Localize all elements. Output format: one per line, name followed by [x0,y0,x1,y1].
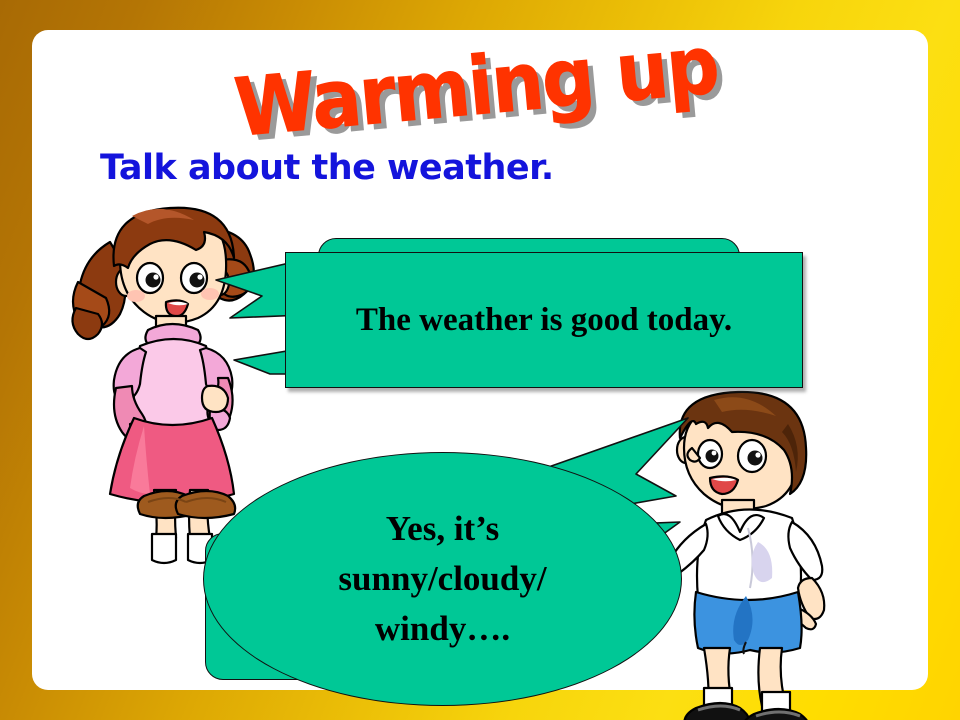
bubble-boy-line-2: sunny/cloudy/ [338,554,546,604]
bubble-girl-text: The weather is good today. [286,253,802,387]
bubble-boy-line-1: Yes, it’s [386,504,499,554]
bubble-boy-text: Yes, it’s sunny/cloudy/ windy…. [204,453,681,705]
slide-canvas: Warming up Warming up Talk about the wea… [0,0,960,720]
bubble-girl: The weather is good today. [285,252,803,388]
bubble-boy: Yes, it’s sunny/cloudy/ windy…. [203,452,682,706]
subtitle-text: Talk about the weather. [100,148,554,188]
bubble-boy-line-3: windy…. [375,604,510,654]
